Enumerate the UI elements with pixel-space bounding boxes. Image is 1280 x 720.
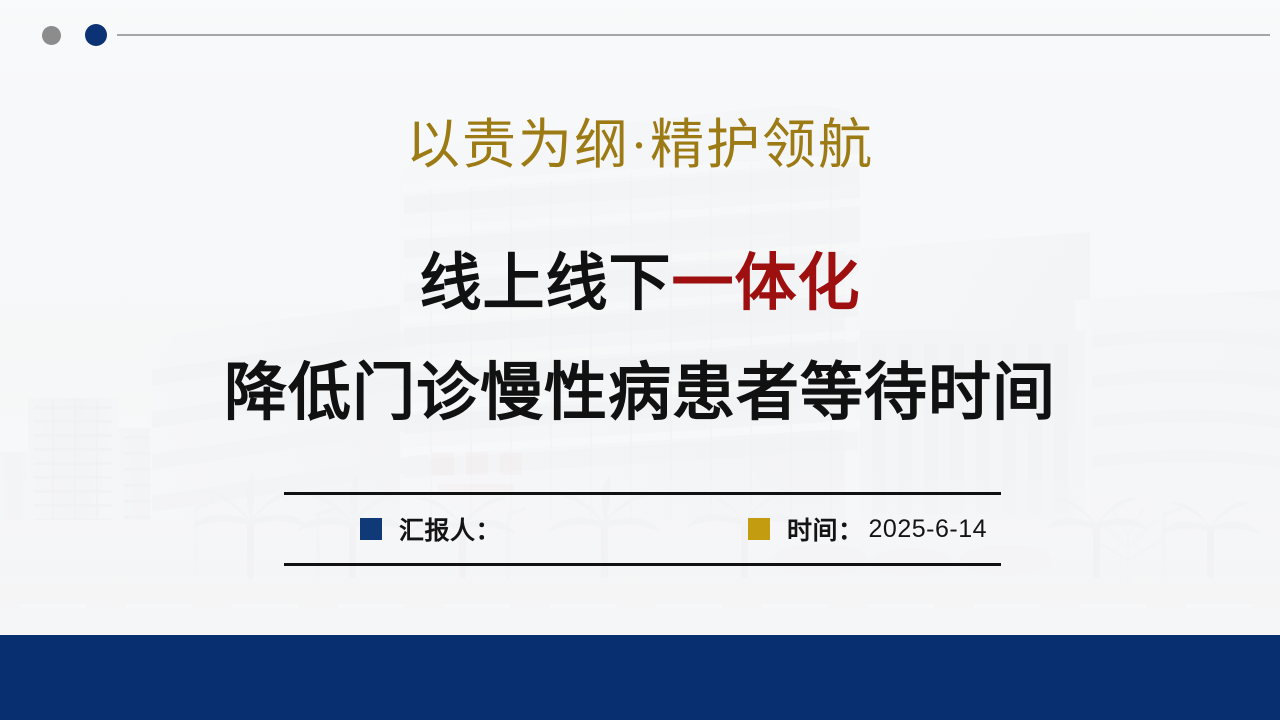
slide-kicker: 以责为纲·精护领航 — [0, 113, 1280, 177]
title-slide: 以责为纲·精护领航 线上线下一体化 降低门诊慢性病患者等待时间 汇报人： 时间：… — [0, 0, 1280, 720]
blue-dot-icon — [85, 24, 107, 46]
gold-square-icon — [748, 518, 770, 540]
presenter-label: 汇报人： — [399, 511, 501, 547]
meta-divider-bottom — [284, 563, 1001, 566]
slide-title-line-2: 降低门诊慢性病患者等待时间 — [0, 357, 1280, 429]
blue-square-icon — [360, 518, 382, 540]
date-field: 时间： 2025-6-14 — [748, 511, 987, 547]
slide-title-line-1: 线上线下一体化 — [0, 249, 1280, 319]
slide-meta-band: 汇报人： 时间： 2025-6-14 — [284, 492, 1001, 566]
top-decoration — [0, 0, 1280, 70]
date-value[interactable]: 2025-6-14 — [869, 515, 987, 544]
slide-title-line-1-main: 线上线下 — [419, 249, 671, 318]
date-label: 时间： — [787, 511, 864, 547]
gray-dot-icon — [42, 26, 61, 45]
presenter-field: 汇报人： — [360, 511, 506, 547]
bottom-accent-band — [0, 635, 1280, 720]
top-divider-rule — [117, 34, 1270, 36]
slide-title-line-1-accent: 一体化 — [672, 249, 861, 318]
meta-row: 汇报人： 时间： 2025-6-14 — [284, 495, 1001, 563]
